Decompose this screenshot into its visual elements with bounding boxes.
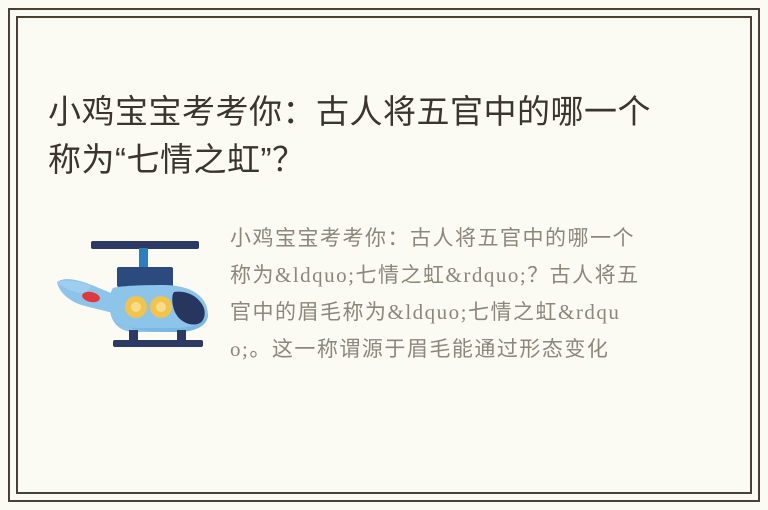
page-title: 小鸡宝宝考考你：古人将五官中的哪一个称为“七情之虹”？ xyxy=(48,88,658,184)
article-card: 小鸡宝宝考考你：古人将五官中的哪一个称为“七情之虹”？ xyxy=(0,0,768,510)
helicopter-icon xyxy=(55,222,215,352)
article-body: 小鸡宝宝考考你：古人将五官中的哪一个称为&ldquo;七情之虹&rdquo;？古… xyxy=(230,220,655,452)
article-content: 小鸡宝宝考考你：古人将五官中的哪一个称为&ldquo;七情之虹&rdquo;？古… xyxy=(48,210,720,465)
